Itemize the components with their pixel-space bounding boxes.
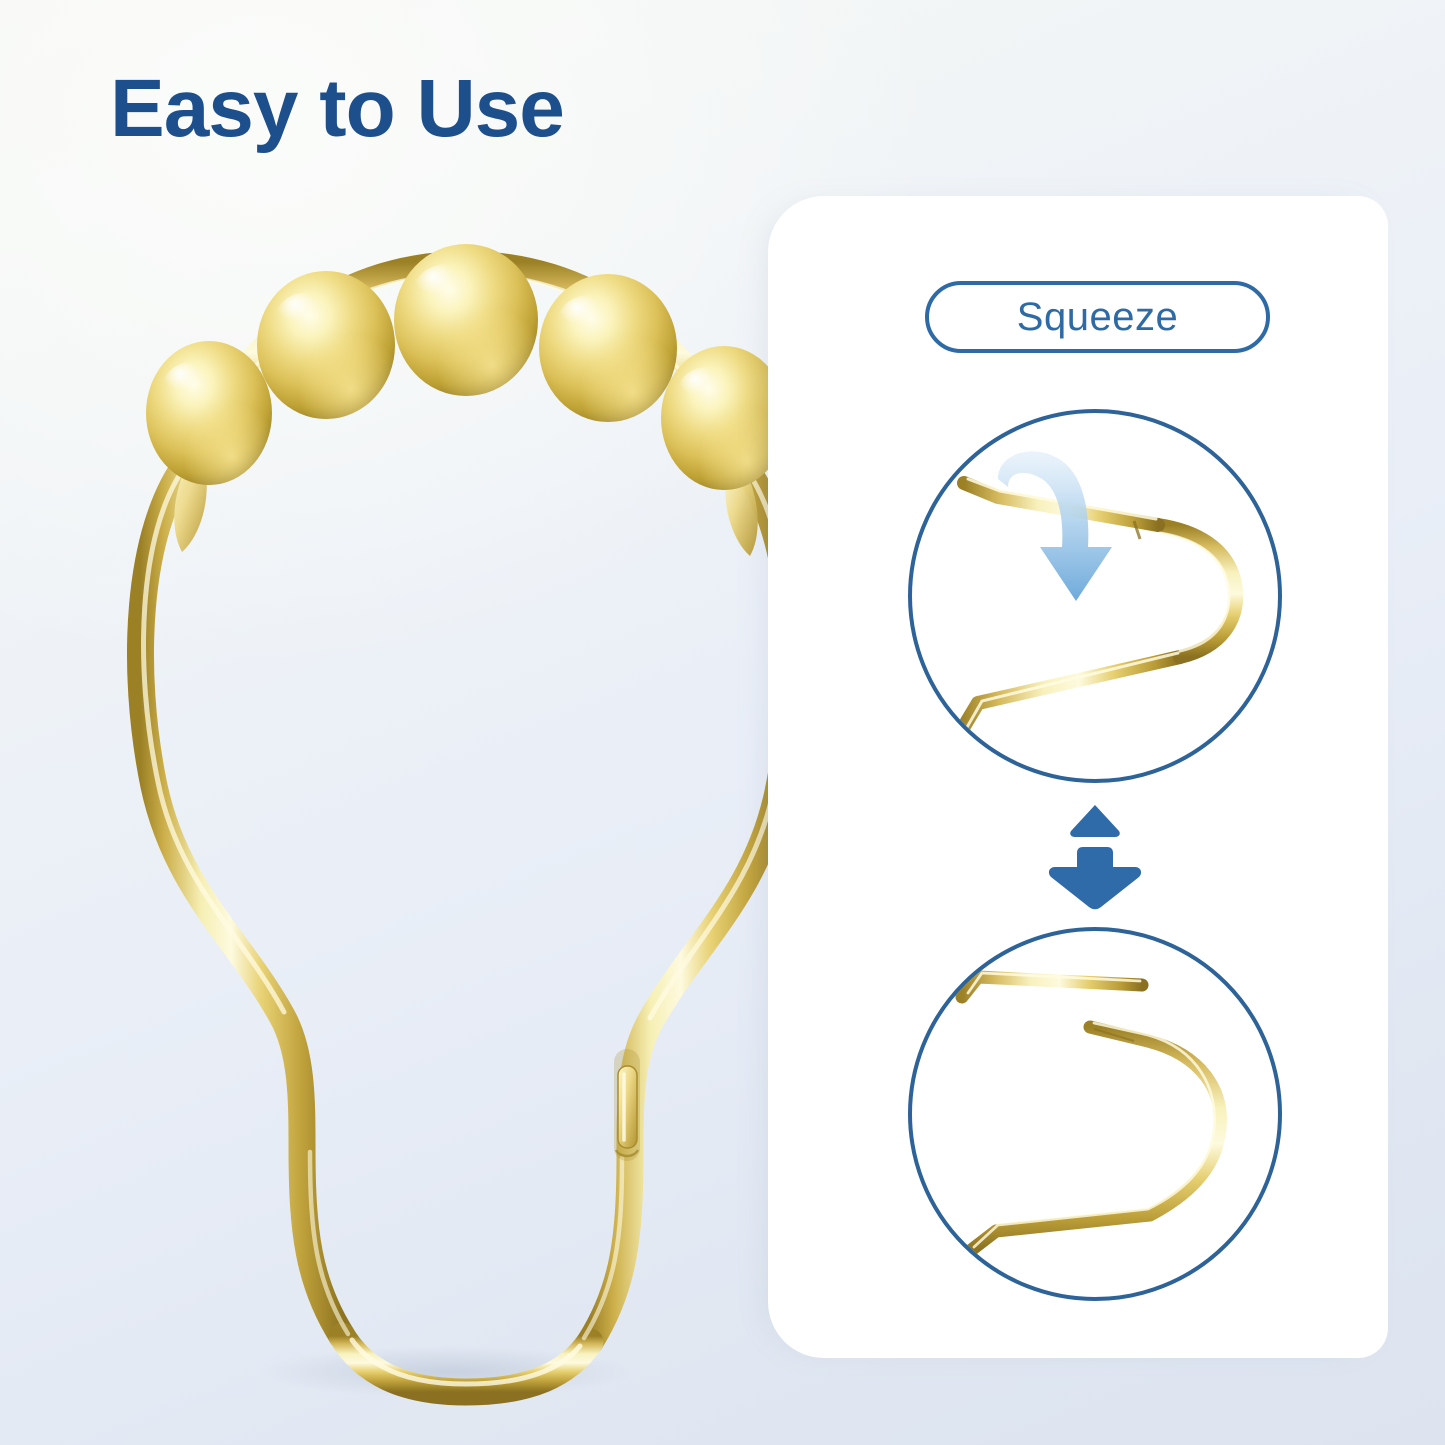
hook-open-diagram [908,927,1282,1301]
squeeze-badge-label: Squeeze [1017,297,1178,337]
roller-bead [257,271,395,419]
hook-open-upper-arm [962,973,1142,997]
hook-closed-diagram [908,409,1282,783]
clasp-latch [616,1062,638,1156]
roller-bead [146,341,272,485]
roller-bead [539,274,677,422]
roller-bead [394,244,538,396]
infographic-canvas: Easy to Use Squeeze [0,0,1445,1445]
hook-closed-wire [960,479,1236,733]
squeeze-badge: Squeeze [925,281,1270,353]
product-image [96,200,836,1420]
hook-open-lower-arm [970,1023,1220,1251]
down-arrow-icon [1043,803,1147,911]
squeeze-arrow-icon [998,451,1112,601]
page-title: Easy to Use [110,68,564,150]
